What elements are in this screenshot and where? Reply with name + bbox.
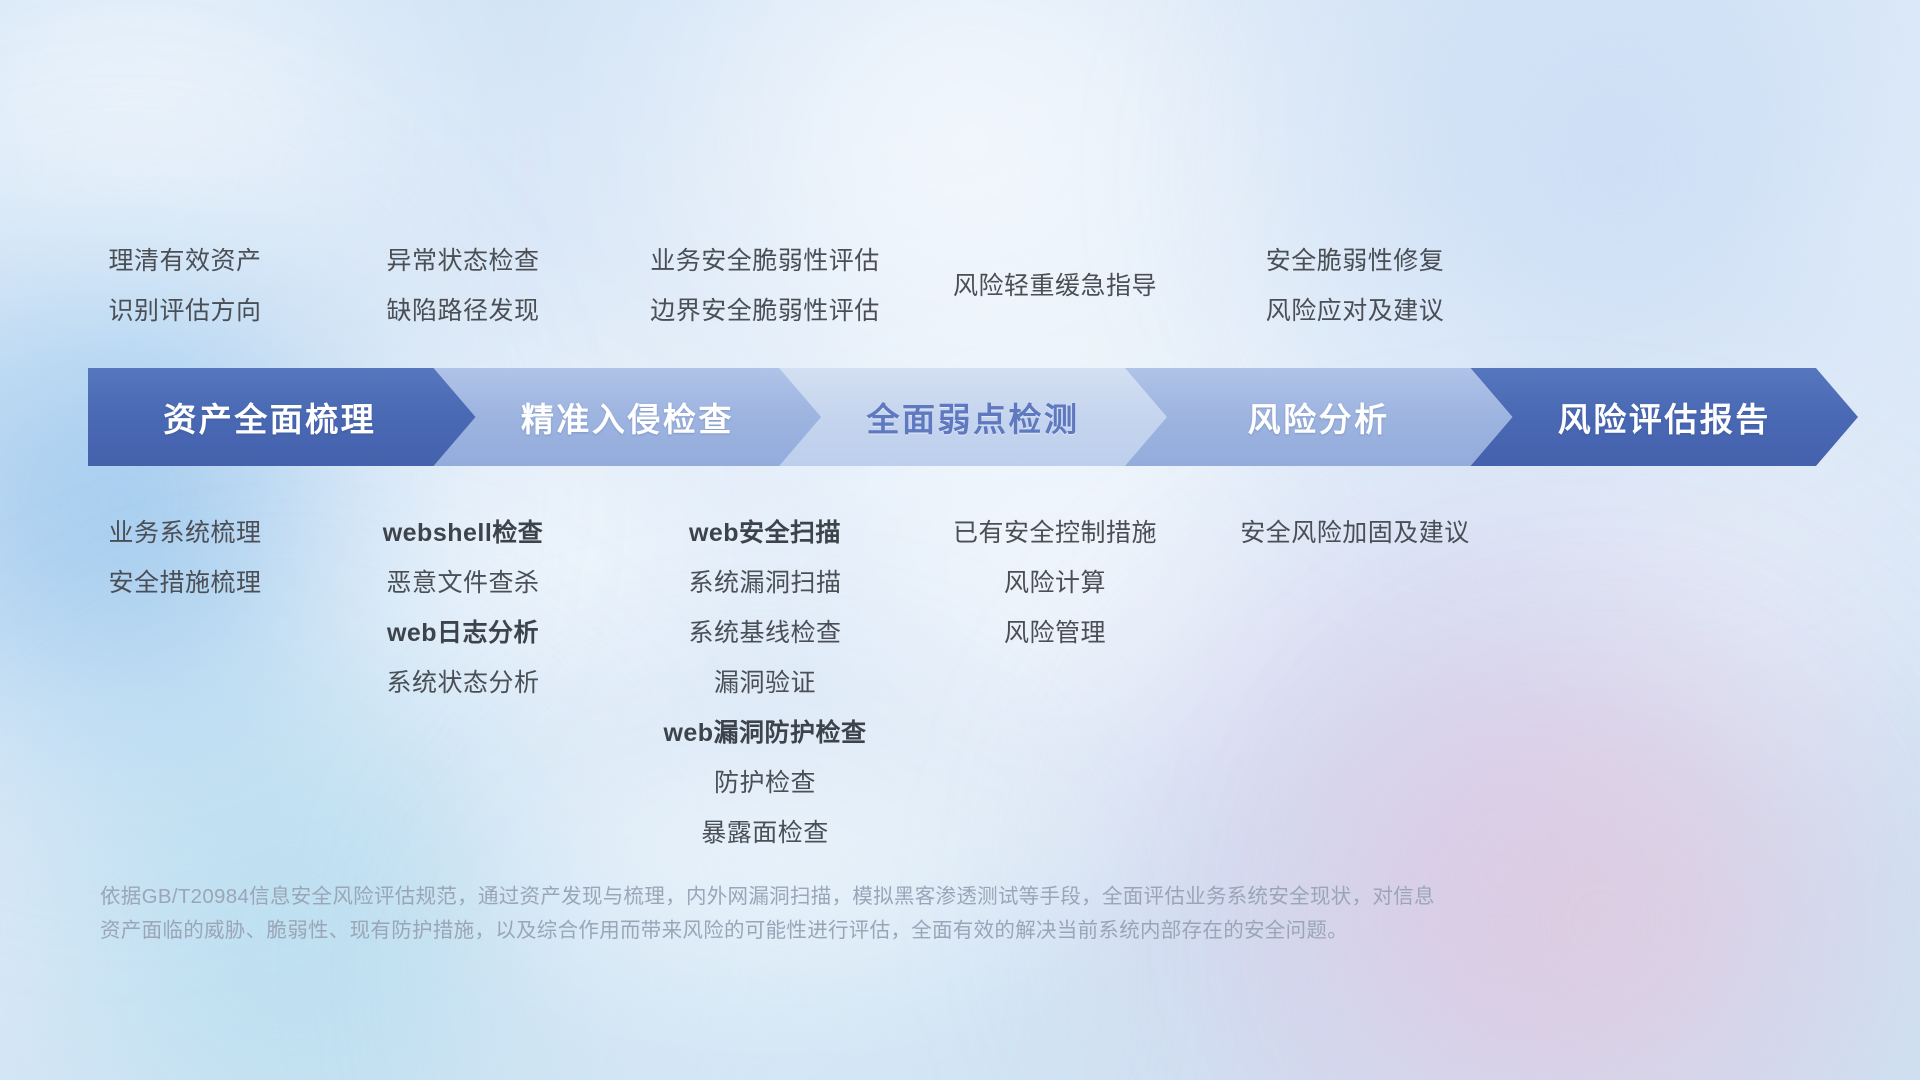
stage-chevron-banner: 资产全面梳理精准入侵检查全面弱点检测风险分析风险评估报告	[88, 368, 1858, 466]
stage-top-items-risk-report: 安全脆弱性修复风险应对及建议	[1145, 236, 1565, 336]
stage-bottom-item: 防护检查	[555, 758, 975, 808]
stage-bottom-item: 安全风险加固及建议	[1145, 508, 1565, 558]
stage-bottom-item: 漏洞验证	[555, 658, 975, 708]
stage-caption: 风险评估报告	[1558, 393, 1771, 441]
stage-bottom-item: 风险管理	[845, 608, 1265, 658]
process-diagram: 理清有效资产识别评估方向异常状态检查缺陷路径发现业务安全脆弱性评估边界安全脆弱性…	[0, 0, 1920, 1080]
stage-caption: 精准入侵检查	[521, 393, 734, 441]
footer-line-1: 依据GB/T20984信息安全风险评估规范，通过资产发现与梳理，内外网漏洞扫描，…	[100, 880, 1620, 914]
stage-chevron-weakness-detection[interactable]: 全面弱点检测	[779, 368, 1167, 466]
stage-bottom-item: web漏洞防护检查	[555, 708, 975, 758]
stage-bottom-item: 风险计算	[845, 558, 1265, 608]
stage-bottom-item: 暴露面检查	[555, 808, 975, 858]
stage-top-items-row: 理清有效资产识别评估方向异常状态检查缺陷路径发现业务安全脆弱性评估边界安全脆弱性…	[0, 236, 1920, 346]
footer-description: 依据GB/T20984信息安全风险评估规范，通过资产发现与梳理，内外网漏洞扫描，…	[100, 880, 1620, 948]
stage-chevron-intrusion-check[interactable]: 精准入侵检查	[434, 368, 822, 466]
stage-caption: 风险分析	[1248, 393, 1390, 441]
stage-top-item: 安全脆弱性修复	[1145, 236, 1565, 286]
footer-line-2: 资产面临的威胁、脆弱性、现有防护措施，以及综合作用而带来风险的可能性进行评估，全…	[100, 914, 1620, 948]
stage-chevron-risk-analysis[interactable]: 风险分析	[1125, 368, 1513, 466]
stage-chevron-risk-report[interactable]: 风险评估报告	[1470, 368, 1858, 466]
stage-top-item: 风险应对及建议	[1145, 286, 1565, 336]
stage-chevron-asset-inventory[interactable]: 资产全面梳理	[88, 368, 476, 466]
stage-caption: 资产全面梳理	[163, 393, 376, 441]
stage-caption: 全面弱点检测	[866, 393, 1079, 441]
stage-bottom-items-risk-report: 安全风险加固及建议	[1145, 508, 1565, 558]
